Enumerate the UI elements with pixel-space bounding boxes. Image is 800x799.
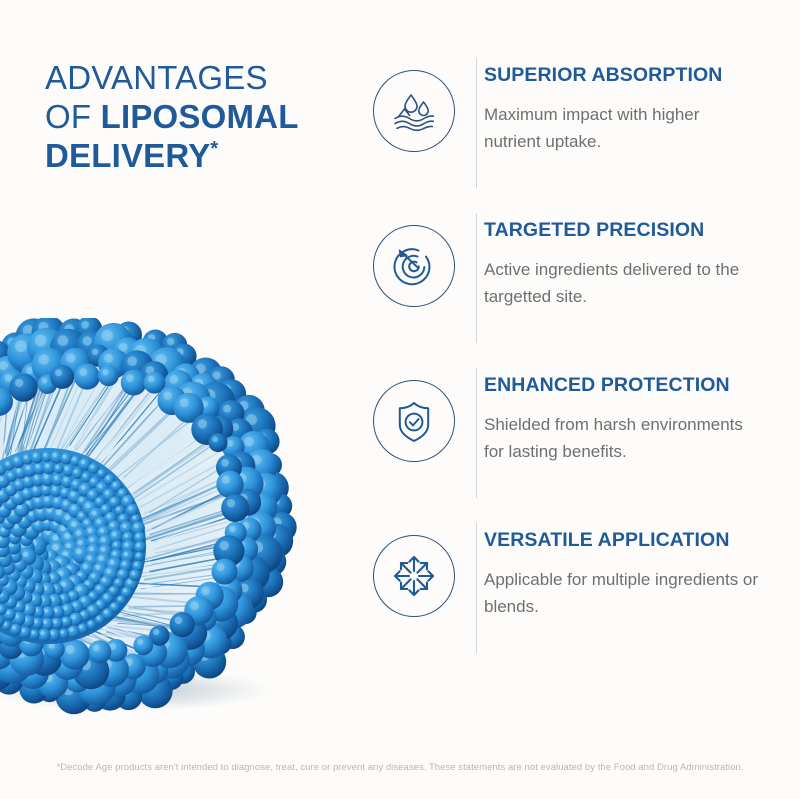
feature-description: Active ingredients delivered to the targ… — [484, 256, 759, 310]
title-line-1: ADVANTAGES — [45, 58, 355, 97]
target-bullseye-arrow-icon — [373, 225, 455, 307]
feature-item-versatile-application: VERSATILE APPLICATION Applicable for mul… — [368, 517, 788, 672]
feature-divider — [476, 523, 477, 653]
feature-icon-wrap — [368, 362, 460, 462]
feature-title: SUPERIOR ABSORPTION — [484, 64, 788, 87]
title-line-3: DELIVERY* — [45, 136, 355, 175]
footer-disclaimer: *Decode Age products aren't intended to … — [0, 762, 800, 773]
feature-title: ENHANCED PROTECTION — [484, 374, 788, 397]
feature-item-superior-absorption: SUPERIOR ABSORPTION Maximum impact with … — [368, 52, 788, 207]
title-line-2: OF LIPOSOMAL — [45, 97, 355, 136]
infographic-canvas: ADVANTAGES OF LIPOSOMAL DELIVERY* — [0, 0, 800, 799]
title-asterisk: * — [210, 138, 218, 160]
feature-icon-wrap — [368, 52, 460, 152]
feature-icon-wrap — [368, 517, 460, 617]
feature-divider — [476, 213, 477, 343]
feature-description: Maximum impact with higher nutrient upta… — [484, 101, 759, 155]
liposome-illustration — [0, 318, 326, 738]
feature-list: SUPERIOR ABSORPTION Maximum impact with … — [368, 52, 788, 672]
water-drops-absorption-icon — [373, 70, 455, 152]
feature-text: TARGETED PRECISION Active ingredients de… — [460, 207, 788, 310]
feature-text: SUPERIOR ABSORPTION Maximum impact with … — [460, 52, 788, 155]
shield-check-icon — [373, 380, 455, 462]
feature-text: ENHANCED PROTECTION Shielded from harsh … — [460, 362, 788, 465]
feature-divider — [476, 368, 477, 498]
feature-divider — [476, 58, 477, 188]
expand-arrows-icon — [373, 535, 455, 617]
title-liposomal: LIPOSOMAL — [101, 98, 299, 135]
feature-description: Applicable for multiple ingredients or b… — [484, 566, 759, 620]
title-delivery: DELIVERY — [45, 137, 210, 174]
page-title: ADVANTAGES OF LIPOSOMAL DELIVERY* — [45, 58, 355, 175]
feature-title: TARGETED PRECISION — [484, 219, 788, 242]
feature-title: VERSATILE APPLICATION — [484, 529, 788, 552]
feature-text: VERSATILE APPLICATION Applicable for mul… — [460, 517, 788, 620]
feature-description: Shielded from harsh environments for las… — [484, 411, 759, 465]
title-of: OF — [45, 98, 101, 135]
feature-item-targeted-precision: TARGETED PRECISION Active ingredients de… — [368, 207, 788, 362]
feature-icon-wrap — [368, 207, 460, 307]
feature-item-enhanced-protection: ENHANCED PROTECTION Shielded from harsh … — [368, 362, 788, 517]
